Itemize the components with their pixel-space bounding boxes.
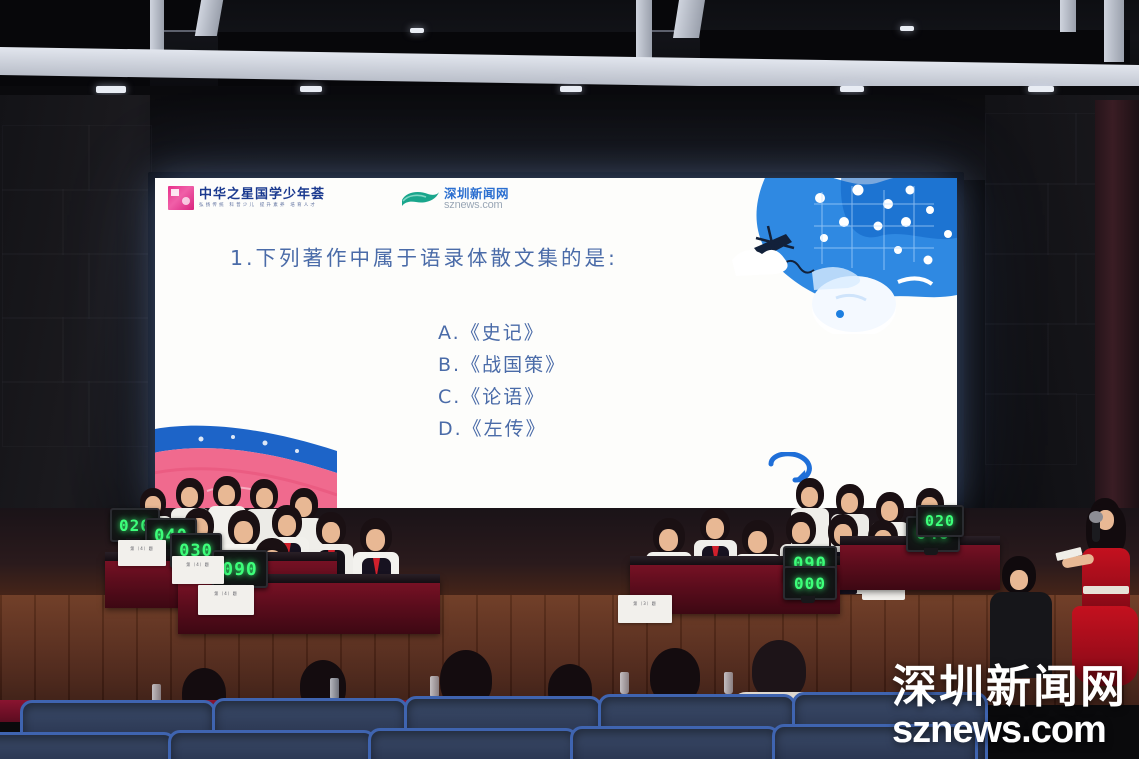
table-placard: 第（4）题 — [118, 540, 166, 566]
option-a: A.《史记》 — [438, 318, 566, 345]
host-belt — [1083, 586, 1129, 594]
placard-label: 第（3）题 — [618, 601, 672, 607]
table-placard: 第（4）题 — [198, 585, 254, 615]
scoreboard: 000 — [783, 566, 837, 600]
watermark: 深圳新闻网 sznews.com — [892, 664, 1127, 749]
brand-logo-sznews: 深圳新闻网 sznews.com — [400, 187, 509, 212]
table-placard: 第（3）题 — [618, 595, 672, 623]
microphone-head-icon — [1089, 511, 1103, 523]
score-value: 020 — [925, 512, 955, 530]
ceiling — [0, 0, 1139, 95]
score-value: 000 — [794, 574, 826, 593]
teal-swoosh-icon — [400, 188, 440, 210]
photo-canvas: 中华之星国学少年荟 弘扬传统 科普少儿 提升素养 培育人才 深圳新闻网 szne… — [0, 0, 1139, 759]
projection-screen: 中华之星国学少年荟 弘扬传统 科普少儿 提升素养 培育人才 深圳新闻网 szne… — [155, 178, 957, 508]
water-bottle — [724, 672, 733, 694]
placard-label: 第（4）题 — [172, 562, 224, 568]
placard-label: 第（4）题 — [118, 546, 166, 552]
back-wall-upper — [0, 95, 1139, 180]
auditorium-seat — [0, 732, 176, 759]
option-list: A.《史记》 B.《战国策》 C.《论语》 D.《左传》 — [438, 318, 566, 441]
auditorium-seat — [168, 730, 376, 759]
brand-subtitle-cn: 弘扬传统 科普少儿 提升素养 培育人才 — [199, 204, 325, 209]
question-text: 1.下列著作中属于语录体散文集的是: — [230, 241, 618, 271]
seal-logo-icon — [168, 186, 194, 210]
watermark-cn: 深圳新闻网 — [892, 664, 1127, 709]
score-value: 090 — [222, 559, 258, 580]
watermark-en: sznews.com — [892, 711, 1127, 749]
auditorium-seat — [570, 726, 780, 759]
water-bottle — [430, 676, 439, 698]
brand-logo-guoxue: 中华之星国学少年荟 弘扬传统 科普少儿 提升素养 培育人才 — [168, 186, 325, 210]
placard-label: 第（4）题 — [198, 591, 254, 597]
water-bottle — [330, 678, 339, 700]
option-b: B.《战国策》 — [438, 350, 566, 377]
slide-header: 中华之星国学少年荟 弘扬传统 科普少儿 提升素养 培育人才 深圳新闻网 szne… — [155, 178, 957, 218]
scoreboard: 020 — [916, 505, 964, 537]
table-placard: 第（4）题 — [172, 556, 224, 584]
sznews-name-en: sznews.com — [444, 200, 509, 212]
option-c: C.《论语》 — [438, 382, 566, 409]
auditorium-seat — [368, 728, 578, 759]
water-bottle — [620, 672, 629, 694]
brand-name-cn: 中华之星国学少年荟 — [199, 188, 325, 201]
option-d: D.《左传》 — [438, 414, 566, 441]
audience-head — [752, 640, 806, 700]
